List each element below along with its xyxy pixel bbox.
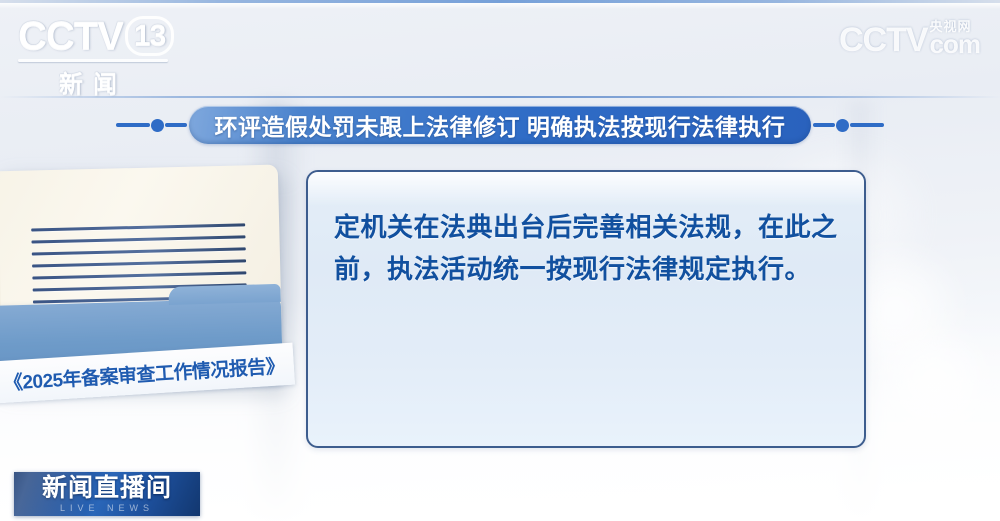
- headline-decoration-right: [813, 119, 884, 132]
- decoration-line-icon: [850, 123, 884, 127]
- document-line: [32, 259, 246, 267]
- quote-card: 定机关在法典出台后完善相关法规，在此之前，执法活动统一按现行法律规定执行。: [306, 170, 866, 448]
- report-document-illustration: 《2025年备案审查工作情况报告》: [0, 168, 292, 403]
- headline-pill: 环评造假处罚未跟上法律修订 明确执法按现行法律执行: [189, 106, 812, 144]
- broadcast-frame: CCTV13 新闻 CCTV央视网com 环评造假处罚未跟上法律修订 明确执法按…: [0, 0, 1000, 521]
- headline-decoration-left: [116, 119, 187, 132]
- document-line: [32, 247, 246, 255]
- headline-banner: 环评造假处罚未跟上法律修订 明确执法按现行法律执行: [0, 104, 1000, 146]
- top-highlight-strip: [0, 3, 1000, 9]
- headline-underline-rule: [0, 96, 1000, 98]
- document-line: [31, 223, 245, 231]
- decoration-line-icon: [116, 123, 150, 127]
- document-folder-tab: [168, 284, 280, 305]
- program-bug-subtitle: LIVE NEWS: [60, 504, 154, 513]
- document-line: [31, 235, 245, 243]
- document-line: [32, 271, 246, 279]
- quote-card-text: 定机关在法典出台后完善相关法规，在此之前，执法活动统一按现行法律规定执行。: [334, 206, 838, 290]
- decoration-line-icon: [813, 123, 835, 127]
- decoration-dot-icon: [836, 119, 849, 132]
- program-bug-title: 新闻直播间: [42, 476, 172, 501]
- decoration-dot-icon: [151, 119, 164, 132]
- headline-text: 环评造假处罚未跟上法律修订 明确执法按现行法律执行: [215, 108, 786, 142]
- decoration-line-icon: [165, 123, 187, 127]
- program-bug: 新闻直播间 LIVE NEWS: [14, 472, 200, 516]
